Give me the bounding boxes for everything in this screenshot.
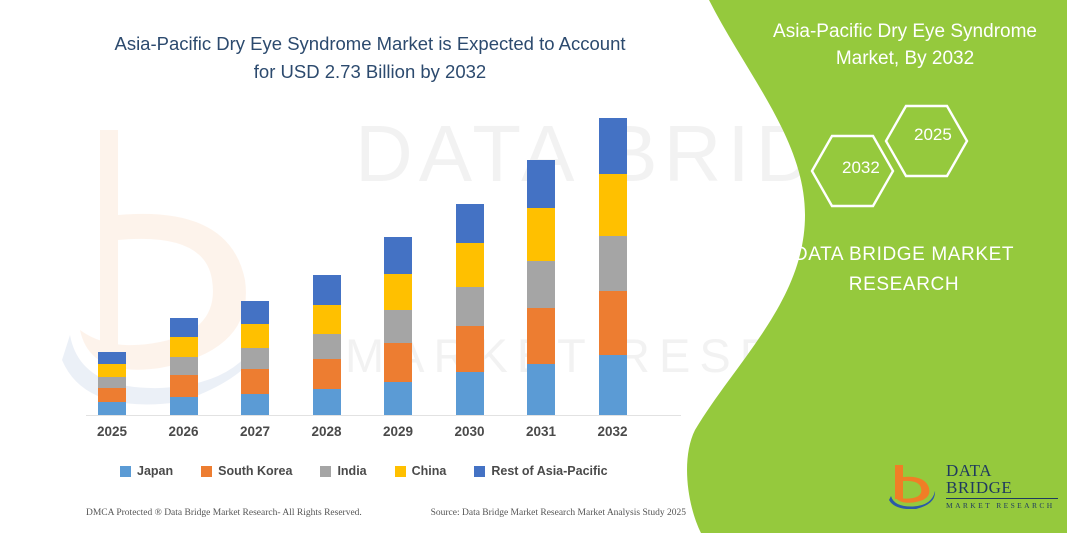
bar-segment[interactable] <box>170 375 198 396</box>
bar-segment[interactable] <box>98 402 126 416</box>
x-axis-label-2025: 2025 <box>84 424 140 439</box>
data-bridge-b-mark-icon <box>888 463 938 509</box>
footer-copyright: DMCA Protected ® Data Bridge Market Rese… <box>86 508 362 518</box>
bar-segment[interactable] <box>98 364 126 377</box>
legend-label: India <box>337 464 366 478</box>
bar-segment[interactable] <box>313 359 341 389</box>
bar-segment[interactable] <box>456 287 484 326</box>
bar-segment[interactable] <box>527 308 555 363</box>
bar-segment[interactable] <box>384 382 412 416</box>
x-axis-label-2031: 2031 <box>513 424 569 439</box>
infographic-root: DATA BRIDGE MARKET RESEARCH Asia-Pacific… <box>0 0 1067 533</box>
bar-segment[interactable] <box>313 305 341 334</box>
legend-item[interactable]: India <box>320 464 366 478</box>
bar-segment[interactable] <box>98 388 126 402</box>
bar-segment[interactable] <box>241 369 269 394</box>
bar-segment[interactable] <box>527 160 555 208</box>
bar-segment[interactable] <box>456 243 484 287</box>
panel-brand-name: DATA BRIDGE MARKET RESEARCH <box>779 240 1029 300</box>
bar-group-2031[interactable] <box>527 160 555 416</box>
legend-swatch-icon <box>320 466 331 477</box>
bar-segment[interactable] <box>527 261 555 308</box>
legend-label: China <box>412 464 447 478</box>
bar-segment[interactable] <box>384 274 412 310</box>
bar-segment[interactable] <box>313 275 341 305</box>
hexagon-label-2032: 2032 <box>842 158 880 178</box>
bar-group-2026[interactable] <box>170 318 198 416</box>
bar-segment[interactable] <box>241 301 269 324</box>
bar-group-2030[interactable] <box>456 204 484 416</box>
bar-group-2027[interactable] <box>241 301 269 416</box>
footer-source: Source: Data Bridge Market Research Mark… <box>431 508 686 518</box>
bar-segment[interactable] <box>170 397 198 416</box>
bar-segment[interactable] <box>527 208 555 261</box>
data-bridge-logo-text: DATA BRIDGE MARKET RESEARCH <box>946 462 1058 510</box>
legend-item[interactable]: China <box>395 464 447 478</box>
bar-segment[interactable] <box>456 204 484 243</box>
bar-segment[interactable] <box>456 326 484 372</box>
bar-group-2029[interactable] <box>384 237 412 416</box>
hexagon-shapes-icon <box>804 103 1004 213</box>
chart-title-line2: for USD 2.73 Billion by 2032 <box>60 58 680 86</box>
bar-segment[interactable] <box>384 343 412 381</box>
legend-item[interactable]: Japan <box>120 464 173 478</box>
bar-segment[interactable] <box>599 174 627 236</box>
bar-group-2032[interactable] <box>599 118 627 416</box>
panel-brand-line1: DATA BRIDGE MARKET <box>779 240 1029 270</box>
footer: DMCA Protected ® Data Bridge Market Rese… <box>86 508 686 518</box>
bar-segment[interactable] <box>98 352 126 364</box>
x-axis-label-2028: 2028 <box>299 424 355 439</box>
bar-group-2025[interactable] <box>98 352 126 416</box>
bar-segment[interactable] <box>313 389 341 416</box>
legend-swatch-icon <box>120 466 131 477</box>
bar-segment[interactable] <box>313 334 341 360</box>
x-axis-label-2026: 2026 <box>156 424 212 439</box>
bar-segment[interactable] <box>599 236 627 291</box>
x-axis-label-2027: 2027 <box>227 424 283 439</box>
legend-item[interactable]: Rest of Asia-Pacific <box>474 464 607 478</box>
legend-item[interactable]: South Korea <box>201 464 292 478</box>
panel-brand-line2: RESEARCH <box>779 270 1029 300</box>
legend-swatch-icon <box>201 466 212 477</box>
bar-segment[interactable] <box>241 348 269 369</box>
data-bridge-logo: DATA BRIDGE MARKET RESEARCH <box>888 460 1058 512</box>
x-axis-line <box>86 415 681 416</box>
chart-legend: JapanSouth KoreaIndiaChinaRest of Asia-P… <box>120 464 608 478</box>
bar-segment[interactable] <box>241 394 269 416</box>
bar-segment[interactable] <box>241 324 269 347</box>
bar-segment[interactable] <box>599 291 627 355</box>
bar-segment[interactable] <box>599 355 627 416</box>
x-axis-label-2032: 2032 <box>585 424 641 439</box>
legend-label: South Korea <box>218 464 292 478</box>
chart-title: Asia-Pacific Dry Eye Syndrome Market is … <box>60 30 680 86</box>
bar-segment[interactable] <box>456 372 484 416</box>
x-axis-label-2030: 2030 <box>442 424 498 439</box>
chart-title-line1: Asia-Pacific Dry Eye Syndrome Market is … <box>60 30 680 58</box>
bar-segment[interactable] <box>170 318 198 337</box>
legend-label: Japan <box>137 464 173 478</box>
panel-title-line2: Market, By 2032 <box>765 45 1045 72</box>
x-axis-labels: 20252026202720282029203020312032 <box>86 424 686 444</box>
bar-chart-plot-area <box>86 96 686 416</box>
bar-segment[interactable] <box>98 377 126 389</box>
legend-label: Rest of Asia-Pacific <box>491 464 607 478</box>
panel-title-line1: Asia-Pacific Dry Eye Syndrome <box>765 18 1045 45</box>
hexagon-group: 2032 2025 <box>804 103 1004 213</box>
logo-subtitle: MARKET RESEARCH <box>946 502 1058 510</box>
bar-segment[interactable] <box>384 237 412 274</box>
logo-title: DATA BRIDGE <box>946 462 1058 499</box>
x-axis-label-2029: 2029 <box>370 424 426 439</box>
hexagon-label-2025: 2025 <box>914 125 952 145</box>
panel-title: Asia-Pacific Dry Eye Syndrome Market, By… <box>765 18 1045 72</box>
bar-segment[interactable] <box>384 310 412 343</box>
bar-segment[interactable] <box>527 364 555 416</box>
bar-segment[interactable] <box>599 118 627 173</box>
bar-segment[interactable] <box>170 337 198 357</box>
bar-segment[interactable] <box>170 357 198 375</box>
legend-swatch-icon <box>474 466 485 477</box>
bar-group-2028[interactable] <box>313 275 341 416</box>
legend-swatch-icon <box>395 466 406 477</box>
